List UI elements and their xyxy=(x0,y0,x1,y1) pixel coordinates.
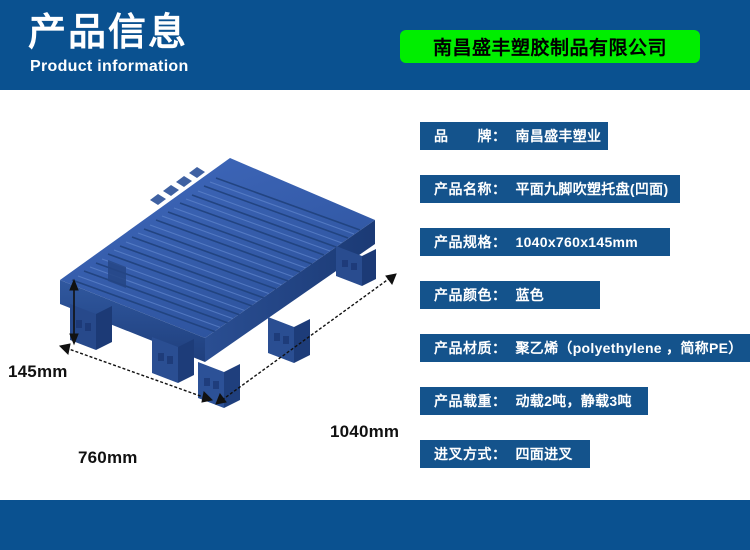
spec-row-product-name: 产品名称： 平面九脚吹塑托盘(凹面) xyxy=(420,175,680,203)
spec-label-specification: 产品规格： xyxy=(434,232,507,252)
product-spec-list: 品 牌： 南昌盛丰塑业 产品名称： 平面九脚吹塑托盘(凹面) 产品规格： 104… xyxy=(420,122,750,468)
dimension-label-width: 760mm xyxy=(78,448,138,468)
spec-value-load-capacity: 动载2吨，静载3吨 xyxy=(516,391,632,411)
pallet-body xyxy=(60,158,376,408)
page-subtitle: Product information xyxy=(30,58,189,76)
spec-label-color: 产品颜色： xyxy=(434,285,507,305)
spec-value-material: 聚乙烯（polyethylene ，简称PE） xyxy=(516,338,743,358)
spec-row-brand: 品 牌： 南昌盛丰塑业 xyxy=(420,122,608,150)
spec-label-brand: 品 牌： xyxy=(434,126,507,146)
spec-value-product-name: 平面九脚吹塑托盘(凹面) xyxy=(516,179,669,199)
product-information-page: 产品信息 Product information 南昌盛丰塑胶制品有限公司 xyxy=(0,0,750,550)
spec-value-fork-entry: 四面进叉 xyxy=(516,444,573,464)
page-footer xyxy=(0,500,750,550)
spec-label-product-name: 产品名称： xyxy=(434,179,507,199)
product-image-area: 145mm 760mm 1040mm xyxy=(0,100,415,430)
page-title: 产品信息 xyxy=(28,10,188,56)
spec-row-specification: 产品规格： 1040x760x145mm xyxy=(420,228,670,256)
spec-value-brand: 南昌盛丰塑业 xyxy=(516,126,602,146)
spec-label-fork-entry: 进叉方式： xyxy=(434,444,507,464)
company-name-banner: 南昌盛丰塑胶制品有限公司 xyxy=(400,30,700,63)
page-header: 产品信息 Product information 南昌盛丰塑胶制品有限公司 xyxy=(0,0,750,90)
dimension-label-height: 145mm xyxy=(8,362,68,382)
spec-value-specification: 1040x760x145mm xyxy=(516,234,639,250)
spec-label-load-capacity: 产品载重： xyxy=(434,391,507,411)
spec-row-color: 产品颜色： 蓝色 xyxy=(420,281,600,309)
spec-label-material: 产品材质： xyxy=(434,338,507,358)
spec-row-load-capacity: 产品载重： 动载2吨，静载3吨 xyxy=(420,387,648,415)
spec-value-color: 蓝色 xyxy=(516,285,545,305)
company-name-text: 南昌盛丰塑胶制品有限公司 xyxy=(433,33,667,60)
spec-row-fork-entry: 进叉方式： 四面进叉 xyxy=(420,440,590,468)
dimension-label-length: 1040mm xyxy=(330,422,399,442)
spec-row-material: 产品材质： 聚乙烯（polyethylene ，简称PE） xyxy=(420,334,750,362)
